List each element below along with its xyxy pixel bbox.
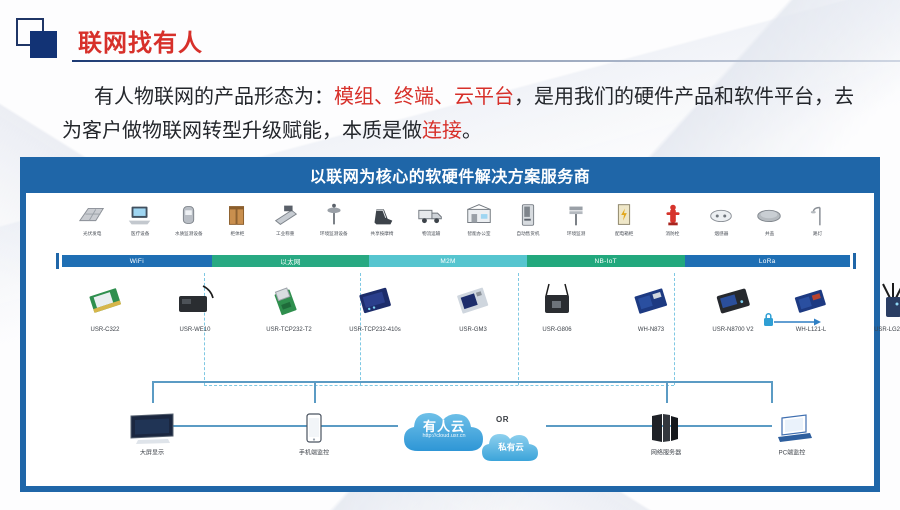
industry-item: 光伏发电 (70, 201, 114, 249)
solar-panel-icon (77, 201, 107, 229)
intro-text-1: 有人物联网的产品形态为： (94, 86, 334, 108)
industry-item: 路灯 (796, 201, 840, 249)
two-squares-logo (16, 18, 62, 58)
group-bottom-dash (204, 385, 674, 386)
product-label: USR-TCP232-T2 (244, 326, 335, 333)
private-cloud[interactable]: 私有云 (478, 425, 544, 465)
band-label: NB-IoT (595, 258, 617, 265)
industry-label: 水质监测设备 (175, 231, 203, 237)
product-icon-wrap (698, 277, 768, 323)
terminal-icon-wrap (112, 405, 192, 445)
terminal-label: 大屏显示 (99, 449, 205, 457)
band-label: M2M (440, 258, 455, 265)
product-label: USR-GM3 (428, 326, 519, 333)
industrial-scale-icon (271, 201, 301, 229)
manhole-cover-icon (754, 201, 784, 229)
locker-cabinet-icon (222, 201, 252, 229)
intro-text-2: ，是用我们的硬件产品和软件 (514, 86, 774, 108)
product-icon-wrap (858, 277, 900, 323)
intro-highlight-1: 模组、终端、云平台 (334, 86, 514, 108)
product-item[interactable]: USR-TCP232-410s (340, 277, 410, 331)
or-label: OR (496, 415, 509, 424)
industry-item: 消防栓 (651, 201, 695, 249)
product-item[interactable]: USR-C322 (70, 277, 140, 331)
industry-item: 共享按摩椅 (360, 201, 404, 249)
panel-body: 光伏发电医疗设备水质监测设备柜体柜工业称重环境监测设备共享按摩椅物流运输智能办公… (26, 193, 874, 486)
product-item[interactable]: USR-WE10 (160, 277, 230, 331)
product-icon-wrap (254, 277, 324, 323)
product-label: USR-LG220-L (848, 326, 900, 333)
industry-label: 环境监测 (567, 231, 585, 237)
weather-station-icon (319, 201, 349, 229)
nb-iot-module-icon (629, 280, 673, 320)
intro-highlight-2: 连接 (422, 120, 462, 142)
band-segment: 以太网 (212, 255, 370, 267)
lock-icon (764, 314, 773, 326)
industry-label: 工业称重 (276, 231, 294, 237)
wifi-serial-server-icon (173, 280, 217, 320)
ethernet-server-icon (353, 280, 397, 320)
solution-panel: 以联网为核心的软硬件解决方案服务商 光伏发电医疗设备水质监测设备柜体柜工业称重环… (20, 157, 880, 492)
panel-title: 以联网为核心的软硬件解决方案服务商 (26, 163, 874, 193)
logistics-truck-icon (416, 201, 446, 229)
industry-item: 智能办公室 (457, 201, 501, 249)
industry-label: 自动售货机 (516, 231, 539, 237)
page-title: 联网找有人 (78, 23, 203, 58)
industry-label: 烟感器 (714, 231, 728, 237)
industrial-router-icon (535, 280, 579, 320)
industry-item: 烟感器 (699, 201, 743, 249)
public-cloud-url: http://cloud.usr.cn (398, 433, 490, 439)
industry-label: 环境监测设备 (320, 231, 348, 237)
terminal-icon-wrap (752, 405, 832, 445)
band-segment: M2M (369, 255, 527, 267)
industry-label: 柜体柜 (230, 231, 244, 237)
connectivity-band: WiFi以太网M2MNB-IoTLoRa (56, 253, 856, 269)
product-icon-wrap (522, 277, 592, 323)
smoke-detector-icon (706, 201, 736, 229)
street-lamp-icon (803, 201, 833, 229)
industry-label: 物流运输 (422, 231, 440, 237)
industry-item: 柜体柜 (215, 201, 259, 249)
band-segments: WiFi以太网M2MNB-IoTLoRa (62, 255, 850, 267)
terminal-item[interactable]: 网络服务器 (626, 405, 706, 455)
product-item[interactable]: USR-TCP232-T2 (254, 277, 324, 331)
industry-label: 消防栓 (666, 231, 680, 237)
terminal-label: PC端监控 (739, 449, 845, 457)
bus-drop-server (666, 381, 668, 403)
product-item[interactable]: USR-G806 (522, 277, 592, 331)
public-cloud[interactable]: 有人云 http://cloud.usr.cn (398, 401, 490, 457)
logo-filled-square (30, 31, 57, 58)
product-label: USR-TCP232-410s (330, 326, 421, 333)
product-label: USR-G806 (512, 326, 603, 333)
industry-icon-row: 光伏发电医疗设备水质监测设备柜体柜工业称重环境监测设备共享按摩椅物流运输智能办公… (70, 201, 840, 249)
industry-item: 井盖 (747, 201, 791, 249)
product-label: USR-C322 (60, 326, 151, 333)
intro-text-4: 。 (462, 120, 482, 142)
industry-label: 配电箱柜 (615, 231, 633, 237)
product-icon-wrap (70, 277, 140, 323)
product-icon-wrap (438, 277, 508, 323)
product-item[interactable]: USR-N8700 V2 (698, 277, 768, 331)
bus-drop-mobile (314, 381, 316, 403)
intro-paragraph: 有人物联网的产品形态为：模组、终端、云平台，是用我们的硬件产品和软件平台，去为客… (62, 80, 872, 148)
product-icon-wrap (340, 277, 410, 323)
smart-office-icon (464, 201, 494, 229)
product-item[interactable]: USR-LG220-L (858, 277, 900, 331)
industry-label: 光伏发电 (83, 231, 101, 237)
industry-item: 水质监测设备 (167, 201, 211, 249)
gprs-module-icon (451, 280, 495, 320)
mobile-phone-icon (290, 411, 338, 445)
industry-label: 井盖 (765, 231, 774, 237)
large-screen-display-icon (128, 411, 176, 445)
pos-terminal-icon (125, 201, 155, 229)
laptop-icon (768, 411, 816, 445)
product-label: WH-N873 (606, 326, 697, 333)
wifi-module-icon (83, 280, 127, 320)
bus-drop-pc (771, 381, 773, 403)
ethernet-module-icon (267, 280, 311, 320)
industry-label: 路灯 (813, 231, 822, 237)
terminal-item[interactable]: 手机端监控 (274, 405, 354, 455)
product-icon-wrap (160, 277, 230, 323)
industry-item: 配电箱柜 (602, 201, 646, 249)
terminal-icon-wrap (626, 405, 706, 445)
terminal-item[interactable]: 大屏显示 (112, 405, 192, 455)
industry-item: 工业称重 (264, 201, 308, 249)
product-icon-wrap (616, 277, 686, 323)
terminal-label: 手机端监控 (261, 449, 367, 457)
industry-item: 环境监测 (554, 201, 598, 249)
massage-chair-icon (367, 201, 397, 229)
industry-item: 环境监测设备 (312, 201, 356, 249)
product-label: USR-WE10 (150, 326, 241, 333)
page-header: 联网找有人 (0, 0, 900, 66)
terminal-item[interactable]: PC端监控 (752, 405, 832, 455)
industry-item: 物流运输 (409, 201, 453, 249)
lora-gateway-icon (871, 280, 900, 320)
band-label: 以太网 (280, 256, 300, 266)
bus-horizontal (152, 381, 772, 383)
product-item[interactable]: USR-GM3 (438, 277, 508, 331)
env-monitor-icon (561, 201, 591, 229)
band-segment: LoRa (685, 255, 850, 267)
band-right-rail (853, 253, 856, 269)
industry-item: 医疗设备 (118, 201, 162, 249)
nb-iot-dtu-icon (711, 280, 755, 320)
bus-drop-left (152, 381, 154, 403)
terminal-label: 网络服务器 (613, 449, 719, 457)
industry-label: 共享按摩椅 (371, 231, 394, 237)
industry-label: 医疗设备 (131, 231, 149, 237)
product-module-row: USR-C322USR-WE10USR-TCP232-T2USR-TCP232-… (66, 277, 846, 353)
lora-secure-link (764, 311, 824, 333)
private-cloud-name: 私有云 (478, 441, 544, 453)
terminal-icon-wrap (274, 405, 354, 445)
header-divider (72, 60, 900, 62)
arrow-right-icon (774, 319, 821, 326)
product-item[interactable]: WH-N873 (616, 277, 686, 331)
industry-label: 智能办公室 (468, 231, 491, 237)
band-left-rail (56, 253, 59, 269)
band-segment: WiFi (62, 255, 212, 267)
fire-hydrant-icon (658, 201, 688, 229)
vending-machine-icon (513, 201, 543, 229)
water-meter-icon (174, 201, 204, 229)
industry-item: 自动售货机 (506, 201, 550, 249)
band-segment: NB-IoT (527, 255, 685, 267)
band-label: LoRa (759, 258, 776, 265)
power-cabinet-icon (609, 201, 639, 229)
band-label: WiFi (130, 258, 144, 265)
server-rack-icon (642, 411, 690, 445)
